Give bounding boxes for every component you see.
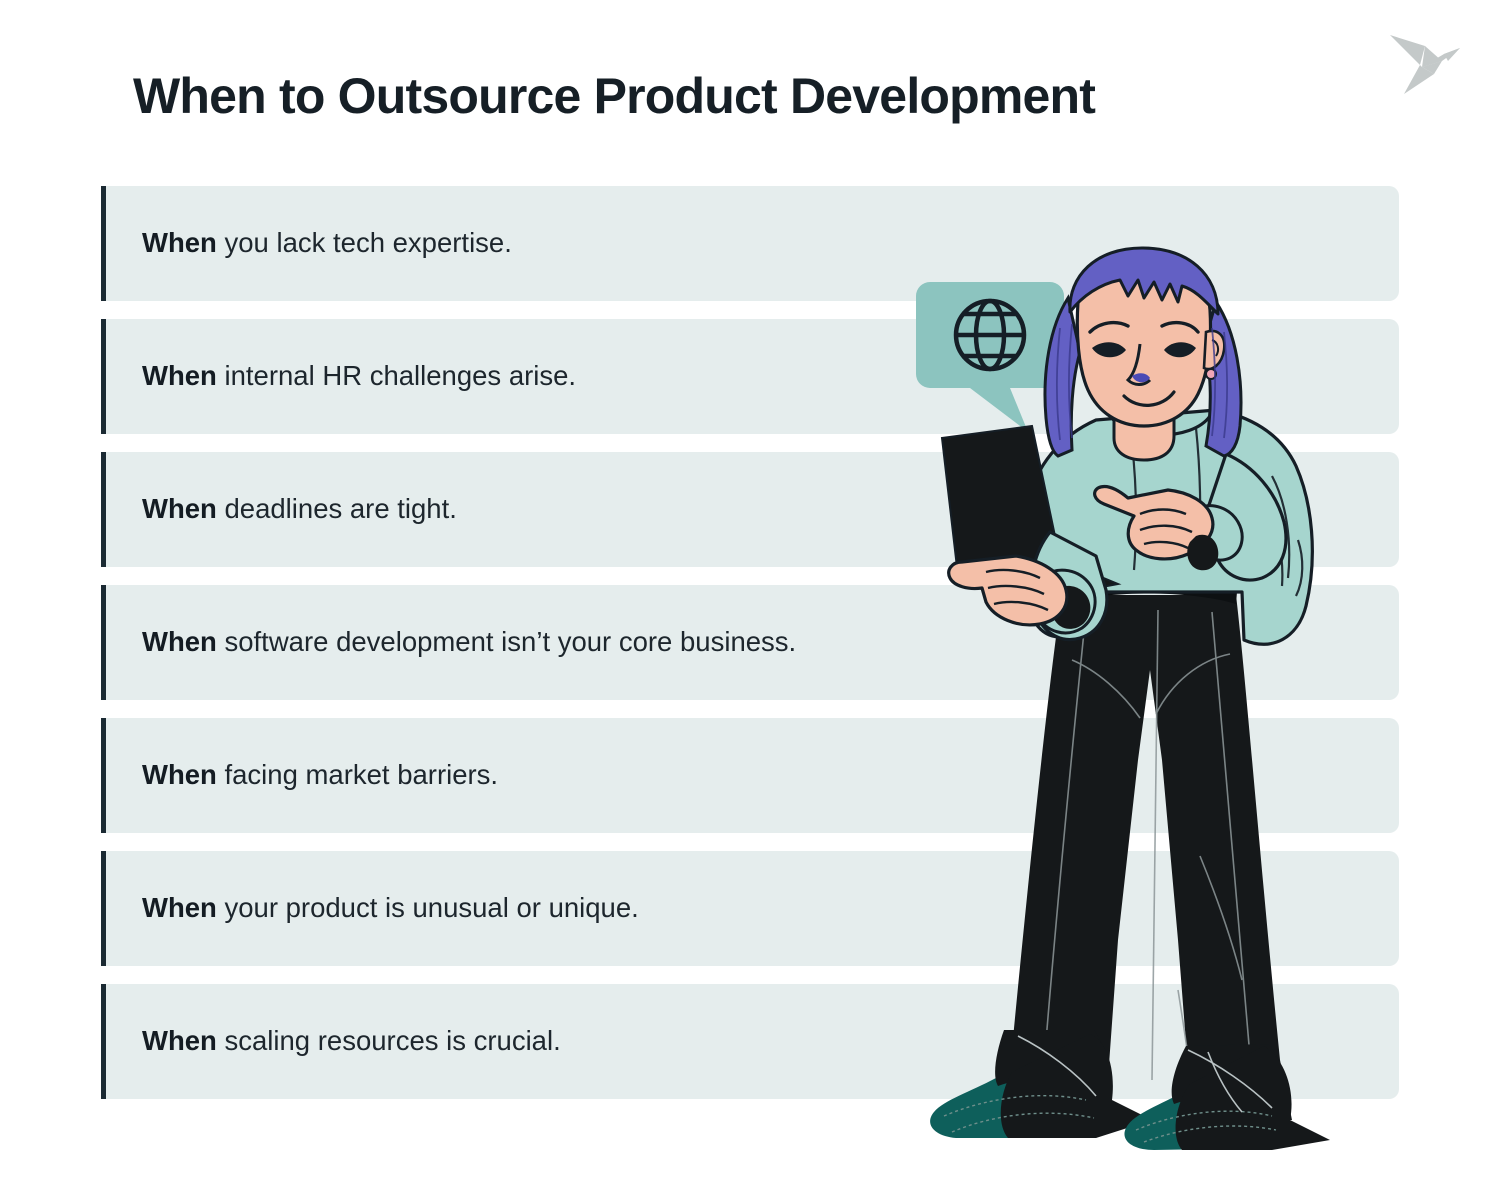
list-item-rest: internal HR challenges arise. <box>217 360 576 391</box>
reasons-list: When you lack tech expertise. When inter… <box>101 186 1399 1099</box>
list-item-rest: your product is unusual or unique. <box>217 892 639 923</box>
accent-bar <box>101 585 106 700</box>
list-item-rest: deadlines are tight. <box>217 493 457 524</box>
list-item-rest: you lack tech expertise. <box>217 227 512 258</box>
accent-bar <box>101 186 106 301</box>
list-item[interactable]: When internal HR challenges arise. <box>101 319 1399 434</box>
list-item-text: When facing market barriers. <box>101 758 498 792</box>
infographic-canvas: When to Outsource Product Development Wh… <box>0 0 1500 1204</box>
list-item-text: When your product is unusual or unique. <box>101 891 639 925</box>
accent-bar <box>101 984 106 1099</box>
list-item-lead: When <box>142 759 217 790</box>
list-item-lead: When <box>142 626 217 657</box>
list-item[interactable]: When scaling resources is crucial. <box>101 984 1399 1099</box>
accent-bar <box>101 319 106 434</box>
list-item-rest: scaling resources is crucial. <box>217 1025 561 1056</box>
page-title: When to Outsource Product Development <box>133 68 1393 124</box>
list-item-lead: When <box>142 227 217 258</box>
list-item[interactable]: When facing market barriers. <box>101 718 1399 833</box>
accent-bar <box>101 452 106 567</box>
list-item[interactable]: When you lack tech expertise. <box>101 186 1399 301</box>
list-item-text: When internal HR challenges arise. <box>101 359 576 393</box>
list-item-text: When you lack tech expertise. <box>101 226 512 260</box>
list-item-text: When deadlines are tight. <box>101 492 457 526</box>
list-item[interactable]: When deadlines are tight. <box>101 452 1399 567</box>
accent-bar <box>101 718 106 833</box>
list-item[interactable]: When software development isn’t your cor… <box>101 585 1399 700</box>
list-item-lead: When <box>142 360 217 391</box>
list-item-lead: When <box>142 892 217 923</box>
accent-bar <box>101 851 106 966</box>
list-item-text: When scaling resources is crucial. <box>101 1024 561 1058</box>
list-item-lead: When <box>142 1025 217 1056</box>
list-item-lead: When <box>142 493 217 524</box>
list-item-text: When software development isn’t your cor… <box>101 625 796 659</box>
list-item-rest: facing market barriers. <box>217 759 498 790</box>
list-item-rest: software development isn’t your core bus… <box>217 626 796 657</box>
list-item[interactable]: When your product is unusual or unique. <box>101 851 1399 966</box>
